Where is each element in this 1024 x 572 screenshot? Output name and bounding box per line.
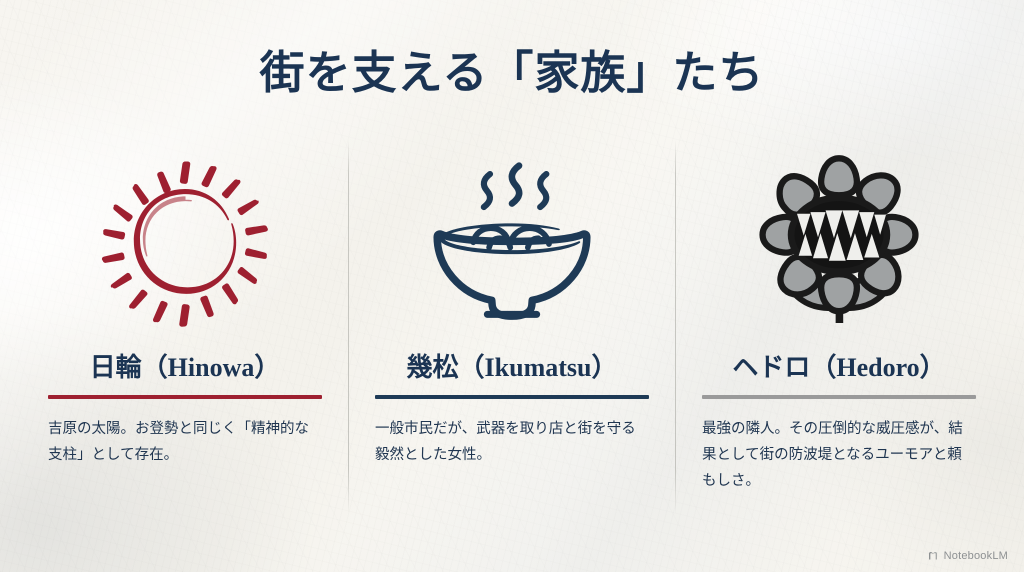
toothed-flower-icon (755, 138, 923, 350)
sun-brush-icon (99, 138, 271, 350)
card-title-hinowa: 日輪（Hinowa） (90, 355, 281, 381)
card-description-hinowa: 吉原の太陽。お登勢と同じく「精神的な支柱」として存在。 (48, 417, 322, 469)
card-rule-hinowa (48, 395, 322, 399)
page-title: 街を支える「家族」たち (0, 36, 1024, 101)
notebooklm-label: NotebookLM (944, 550, 1008, 562)
card-description-hedoro: 最強の隣人。その圧倒的な威圧感が、結果として街の防波堤となるユーモアと頼もしさ。 (702, 417, 976, 494)
ramen-bowl-icon (424, 138, 600, 350)
notebooklm-icon (927, 550, 939, 562)
character-card-ikumatsu: 幾松（Ikumatsu） 一般市民だが、武器を取り店と街を守る毅然とした女性。 (349, 138, 675, 469)
card-rule-hedoro (702, 395, 976, 399)
card-description-ikumatsu: 一般市民だが、武器を取り店と街を守る毅然とした女性。 (375, 417, 649, 469)
character-card-hedoro: ヘドロ（Hedoro） 最強の隣人。その圧倒的な威圧感が、結果として街の防波堤と… (676, 138, 1002, 494)
slide-canvas: 街を支える「家族」たち (0, 0, 1024, 572)
card-title-ikumatsu: 幾松（Ikumatsu） (407, 355, 618, 381)
notebooklm-watermark: NotebookLM (927, 550, 1008, 562)
card-rule-ikumatsu (375, 395, 649, 399)
card-title-hedoro: ヘドロ（Hedoro） (732, 355, 945, 381)
character-card-hinowa: 日輪（Hinowa） 吉原の太陽。お登勢と同じく「精神的な支柱」として存在。 (22, 138, 348, 469)
character-columns: 日輪（Hinowa） 吉原の太陽。お登勢と同じく「精神的な支柱」として存在。 (22, 138, 1002, 538)
